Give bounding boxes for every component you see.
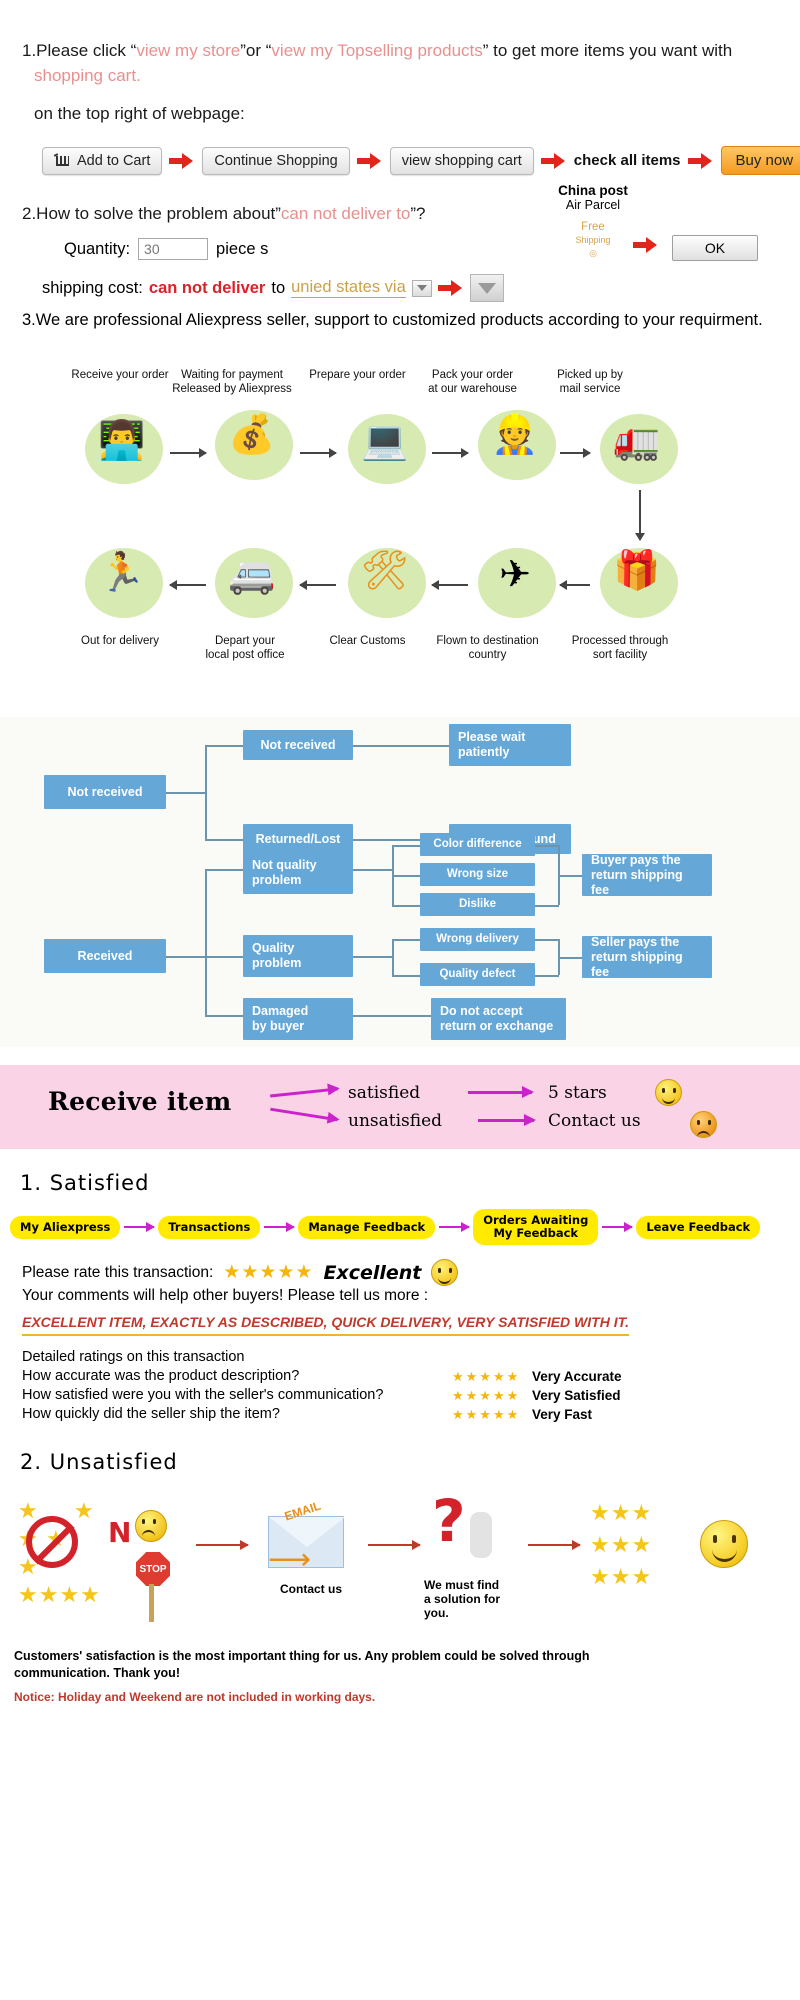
arrow-right-icon bbox=[368, 1544, 420, 1546]
cannot-deliver-text: can not deliver bbox=[149, 279, 265, 298]
view-topselling-link[interactable]: view my Topselling products bbox=[271, 41, 482, 60]
flow-wrong-delivery: Wrong delivery bbox=[420, 928, 535, 951]
arrow-left-icon bbox=[432, 584, 468, 586]
smiley-happy-icon bbox=[431, 1259, 458, 1286]
receive-item-banner: Receive item satisfied unsatisfied 5 sta… bbox=[0, 1065, 800, 1149]
connector bbox=[353, 869, 393, 871]
section-2-heading: 2.How to solve the problem about”can not… bbox=[22, 201, 800, 226]
flow-color-difference: Color difference bbox=[420, 833, 535, 856]
section-2-delivery-problem: 2.How to solve the problem about”can not… bbox=[0, 175, 800, 295]
flow-label-clear-customs: Clear Customs bbox=[310, 634, 425, 648]
connector bbox=[535, 845, 559, 847]
table-row: How accurate was the product description… bbox=[22, 1367, 800, 1386]
truck-icon: 🚛 bbox=[597, 422, 677, 460]
footer-notice: Notice: Holiday and Weekend are not incl… bbox=[14, 1690, 800, 1704]
star-icon: ★★★ bbox=[590, 1566, 652, 1588]
arrow-right-icon bbox=[124, 1226, 154, 1228]
arrow-right-icon bbox=[602, 1226, 632, 1228]
monitor-icon: 💻 bbox=[345, 422, 425, 460]
star-icon: ★★★ bbox=[590, 1534, 652, 1556]
s2-heading-post: ”? bbox=[410, 204, 425, 223]
resolution-flowchart: Not received Not received Returned/Lost … bbox=[0, 717, 800, 1047]
connector bbox=[392, 845, 420, 847]
s2-heading-red: can not deliver to bbox=[281, 204, 410, 223]
contact-us-caption: Contact us bbox=[280, 1582, 342, 1596]
arrow-right-icon bbox=[432, 452, 468, 454]
line1-mid: ”or “ bbox=[240, 41, 271, 60]
curved-arrow-icon: ⟶ bbox=[268, 1542, 311, 1577]
connector bbox=[205, 839, 243, 841]
comments-prompt: Your comments will help other buyers! Pl… bbox=[22, 1286, 800, 1306]
no-entry-icon bbox=[26, 1516, 78, 1568]
arrow-right-icon bbox=[633, 237, 659, 253]
rating-label: Very Satisfied bbox=[532, 1386, 621, 1405]
connector bbox=[166, 792, 206, 794]
flow-label-sort-facility: Processed through sort facility bbox=[555, 634, 685, 662]
star-icon: ★★★★ bbox=[18, 1584, 101, 1606]
ok-label: OK bbox=[705, 240, 725, 256]
flow-quality-defect: Quality defect bbox=[420, 963, 535, 986]
destination-select-value[interactable]: unied states via bbox=[291, 278, 406, 298]
rating-stars: ★★★★★ bbox=[452, 1405, 532, 1424]
dropdown-expand-button[interactable] bbox=[470, 274, 504, 302]
view-my-store-link[interactable]: view my store bbox=[136, 41, 240, 60]
rating-question: How satisfied were you with the seller's… bbox=[22, 1386, 452, 1405]
arrow-right-icon bbox=[357, 153, 383, 169]
flow-no-return-exchange: Do not accept return or exchange bbox=[431, 998, 566, 1040]
arrow-right-icon bbox=[170, 452, 206, 454]
connector bbox=[353, 745, 449, 747]
banner-title: Receive item bbox=[48, 1087, 231, 1116]
comment-text: EXCELLENT ITEM, EXACTLY AS DESCRIBED, QU… bbox=[22, 1312, 629, 1336]
stop-label: STOP bbox=[139, 1564, 166, 1575]
instructions-page: 1.Please click “view my store”or “view m… bbox=[0, 0, 800, 1704]
flow-received-root: Received bbox=[44, 939, 166, 973]
rate-transaction-label: Please rate this transaction: bbox=[22, 1263, 213, 1283]
flow-label-pack-order: Pack your order at our warehouse bbox=[415, 368, 530, 396]
arrow-right-icon bbox=[560, 452, 590, 454]
flow-wrong-size: Wrong size bbox=[420, 863, 535, 886]
flow-please-wait: Please wait patiently bbox=[449, 724, 571, 766]
rating-question: How quickly did the seller ship the item… bbox=[22, 1405, 452, 1424]
flow-returned-lost: Returned/Lost bbox=[243, 824, 353, 854]
checkout-button-flow: Add to Cart Continue Shopping view shopp… bbox=[22, 146, 800, 175]
step-leave-feedback[interactable]: Leave Feedback bbox=[636, 1216, 760, 1239]
flow-label-prepare-order: Prepare your order bbox=[300, 368, 415, 382]
arrow-down-icon bbox=[639, 490, 641, 540]
flow-not-received-root: Not received bbox=[44, 775, 166, 809]
shipping-cost-row: shipping cost:can not deliver to unied s… bbox=[42, 274, 800, 302]
unsatisfied-heading: 2. Unsatisfied bbox=[20, 1450, 800, 1474]
flow-dislike: Dislike bbox=[420, 893, 535, 916]
rating-label: Very Accurate bbox=[532, 1367, 622, 1386]
customs-icon: 🛠 bbox=[345, 552, 425, 590]
banner-option-satisfied: satisfied bbox=[348, 1083, 420, 1103]
ok-button[interactable]: OK bbox=[672, 235, 758, 261]
connector bbox=[558, 957, 582, 959]
add-to-cart-button[interactable]: Add to Cart bbox=[42, 147, 162, 175]
view-shopping-cart-button[interactable]: view shopping cart bbox=[390, 147, 534, 175]
arrow-right-icon bbox=[468, 1091, 532, 1094]
step-transactions[interactable]: Transactions bbox=[158, 1216, 260, 1239]
flow-damaged-by-buyer: Damaged by buyer bbox=[243, 998, 353, 1040]
sign-post-icon bbox=[149, 1584, 154, 1622]
line1-post: ” to get more items you want with bbox=[483, 41, 732, 60]
connector bbox=[535, 939, 559, 941]
continue-shopping-label: Continue Shopping bbox=[214, 153, 337, 169]
feedback-steps-flow: My Aliexpress Transactions Manage Feedba… bbox=[10, 1209, 800, 1245]
footer-text: Customers' satisfaction is the most impo… bbox=[14, 1648, 634, 1682]
step-my-aliexpress[interactable]: My Aliexpress bbox=[10, 1216, 120, 1239]
continue-shopping-button[interactable]: Continue Shopping bbox=[202, 147, 349, 175]
smiley-sad-icon bbox=[135, 1510, 167, 1542]
connector bbox=[535, 975, 559, 977]
section-1-line-3: on the top right of webpage: bbox=[22, 101, 800, 126]
section-1-store-links: 1.Please click “view my store”or “view m… bbox=[0, 0, 800, 175]
flow-label-waiting-payment: Waiting for payment Released by Aliexpre… bbox=[167, 368, 297, 396]
section-1-line-1: 1.Please click “view my store”or “view m… bbox=[22, 38, 800, 63]
connector bbox=[205, 745, 207, 839]
money-bag-icon: 💰 bbox=[212, 416, 292, 454]
connector bbox=[353, 1015, 431, 1017]
connector bbox=[535, 905, 559, 907]
arrow-left-icon bbox=[170, 584, 206, 586]
smiley-happy-icon bbox=[700, 1520, 748, 1568]
parcels-icon: 🎁 bbox=[597, 552, 677, 590]
step-manage-feedback[interactable]: Manage Feedback bbox=[298, 1216, 435, 1239]
cart-icon bbox=[54, 154, 71, 167]
arrow-left-icon bbox=[560, 584, 590, 586]
connector bbox=[205, 869, 207, 1015]
arrow-right-icon bbox=[169, 153, 195, 169]
arrow-left-icon bbox=[300, 584, 336, 586]
quantity-input[interactable] bbox=[138, 238, 208, 260]
connector bbox=[166, 956, 206, 958]
add-to-cart-label: Add to Cart bbox=[77, 153, 150, 169]
star-icon: ★ bbox=[74, 1500, 95, 1522]
detailed-ratings-table: Detailed ratings on this transaction How… bbox=[22, 1348, 800, 1424]
banner-result-5-stars: 5 stars bbox=[548, 1083, 607, 1103]
connector bbox=[205, 956, 243, 958]
flow-seller-pays-fee: Seller pays the return shipping fee bbox=[582, 936, 712, 978]
arrow-right-icon bbox=[439, 1226, 469, 1228]
arrow-right-icon bbox=[270, 1087, 338, 1097]
flow-label-out-for-delivery: Out for delivery bbox=[60, 634, 180, 648]
flow-not-received-1: Not received bbox=[243, 730, 353, 760]
worker-box-icon: 👷 bbox=[475, 416, 555, 454]
arrow-right-icon bbox=[528, 1544, 580, 1546]
person-at-computer-icon: 👨‍💻 bbox=[82, 422, 162, 460]
rating-stars: ★★★★★ bbox=[452, 1367, 532, 1386]
free-shipping-line1: Free bbox=[581, 221, 605, 233]
line1-pre: 1.Please click “ bbox=[22, 41, 136, 60]
flow-label-flown-to-destination: Flown to destination country bbox=[425, 634, 550, 662]
connector bbox=[353, 956, 393, 958]
connector bbox=[558, 875, 582, 877]
table-row: How quickly did the seller ship the item… bbox=[22, 1405, 800, 1424]
flow-buyer-pays-fee: Buyer pays the return shipping fee bbox=[582, 854, 712, 896]
shipping-process-diagram: Receive your order Waiting for payment R… bbox=[0, 352, 800, 717]
solution-caption: We must find a solution for you. bbox=[424, 1578, 500, 1620]
arrow-right-icon bbox=[541, 153, 567, 169]
banner-result-contact-us: Contact us bbox=[548, 1111, 641, 1131]
question-mark-icon: ? bbox=[432, 1492, 466, 1550]
banner-option-unsatisfied: unsatisfied bbox=[348, 1111, 442, 1131]
check-all-items-label: check all items bbox=[574, 152, 681, 169]
flow-label-receive-order: Receive your order bbox=[65, 368, 175, 382]
detailed-ratings-title: Detailed ratings on this transaction bbox=[22, 1348, 800, 1367]
shipping-to-text: to bbox=[271, 279, 285, 298]
rating-excellent-label: Excellent bbox=[323, 1263, 421, 1283]
quantity-label: Quantity: bbox=[64, 240, 130, 259]
connector bbox=[205, 869, 243, 871]
step-orders-awaiting-feedback[interactable]: Orders Awaiting My Feedback bbox=[473, 1209, 598, 1245]
connector bbox=[392, 875, 420, 877]
star-icon: ★★★ bbox=[590, 1502, 652, 1524]
airplane-icon: ✈ bbox=[475, 556, 555, 594]
connector bbox=[392, 975, 420, 977]
chevron-down-icon[interactable] bbox=[412, 280, 432, 297]
unsatisfied-flow: ★ ★ ★ ★★★★ ★ ★ N STOP EMAIL ⟶ Contact us… bbox=[0, 1482, 800, 1642]
arrow-right-icon bbox=[196, 1544, 248, 1546]
connector bbox=[205, 1015, 243, 1017]
arrow-right-icon bbox=[478, 1119, 534, 1122]
arrow-right-icon bbox=[300, 452, 336, 454]
buy-now-label: Buy now bbox=[736, 152, 794, 169]
flow-not-quality-problem: Not quality problem bbox=[243, 852, 353, 894]
flow-quality-problem: Quality problem bbox=[243, 935, 353, 977]
flow-label-depart-post-office: Depart your local post office bbox=[185, 634, 305, 662]
flow-label-picked-up: Picked up by mail service bbox=[535, 368, 645, 396]
connector bbox=[392, 939, 394, 975]
arrow-right-icon bbox=[438, 280, 464, 296]
china-post-subtitle: Air Parcel bbox=[533, 198, 653, 212]
shipping-cost-label: shipping cost: bbox=[42, 279, 143, 298]
letter-n-label: N bbox=[108, 1516, 131, 1549]
stop-sign-icon: STOP bbox=[136, 1552, 170, 1586]
arrow-right-icon bbox=[270, 1108, 338, 1121]
piece-label: piece s bbox=[216, 240, 268, 259]
table-row: How satisfied were you with the seller's… bbox=[22, 1386, 800, 1405]
connector bbox=[392, 905, 420, 907]
buy-now-button[interactable]: Buy now bbox=[721, 146, 800, 175]
arrow-right-icon bbox=[688, 153, 714, 169]
rating-stars: ★★★★★ bbox=[452, 1386, 532, 1405]
view-shopping-cart-label: view shopping cart bbox=[402, 153, 522, 169]
van-icon: 🚐 bbox=[212, 556, 292, 594]
person-icon bbox=[470, 1512, 492, 1558]
star-icon: ★ bbox=[18, 1500, 39, 1522]
satisfied-heading: 1. Satisfied bbox=[20, 1171, 800, 1195]
smiley-sad-icon bbox=[690, 1111, 717, 1138]
rating-stars[interactable]: ★★★★★ bbox=[223, 1263, 313, 1283]
connector bbox=[392, 939, 420, 941]
connector bbox=[205, 745, 243, 747]
rating-label: Very Fast bbox=[532, 1405, 592, 1424]
rating-block: Please rate this transaction: ★★★★★ Exce… bbox=[22, 1259, 800, 1336]
section-1-line-2: shopping cart. bbox=[22, 63, 800, 88]
arrow-right-icon bbox=[264, 1226, 294, 1228]
courier-running-icon: 🏃 bbox=[82, 554, 162, 592]
s2-heading-pre: 2.How to solve the problem about” bbox=[22, 204, 281, 223]
smiley-happy-icon bbox=[655, 1079, 682, 1106]
rating-question: How accurate was the product description… bbox=[22, 1367, 452, 1386]
china-post-title: China post bbox=[533, 183, 653, 198]
